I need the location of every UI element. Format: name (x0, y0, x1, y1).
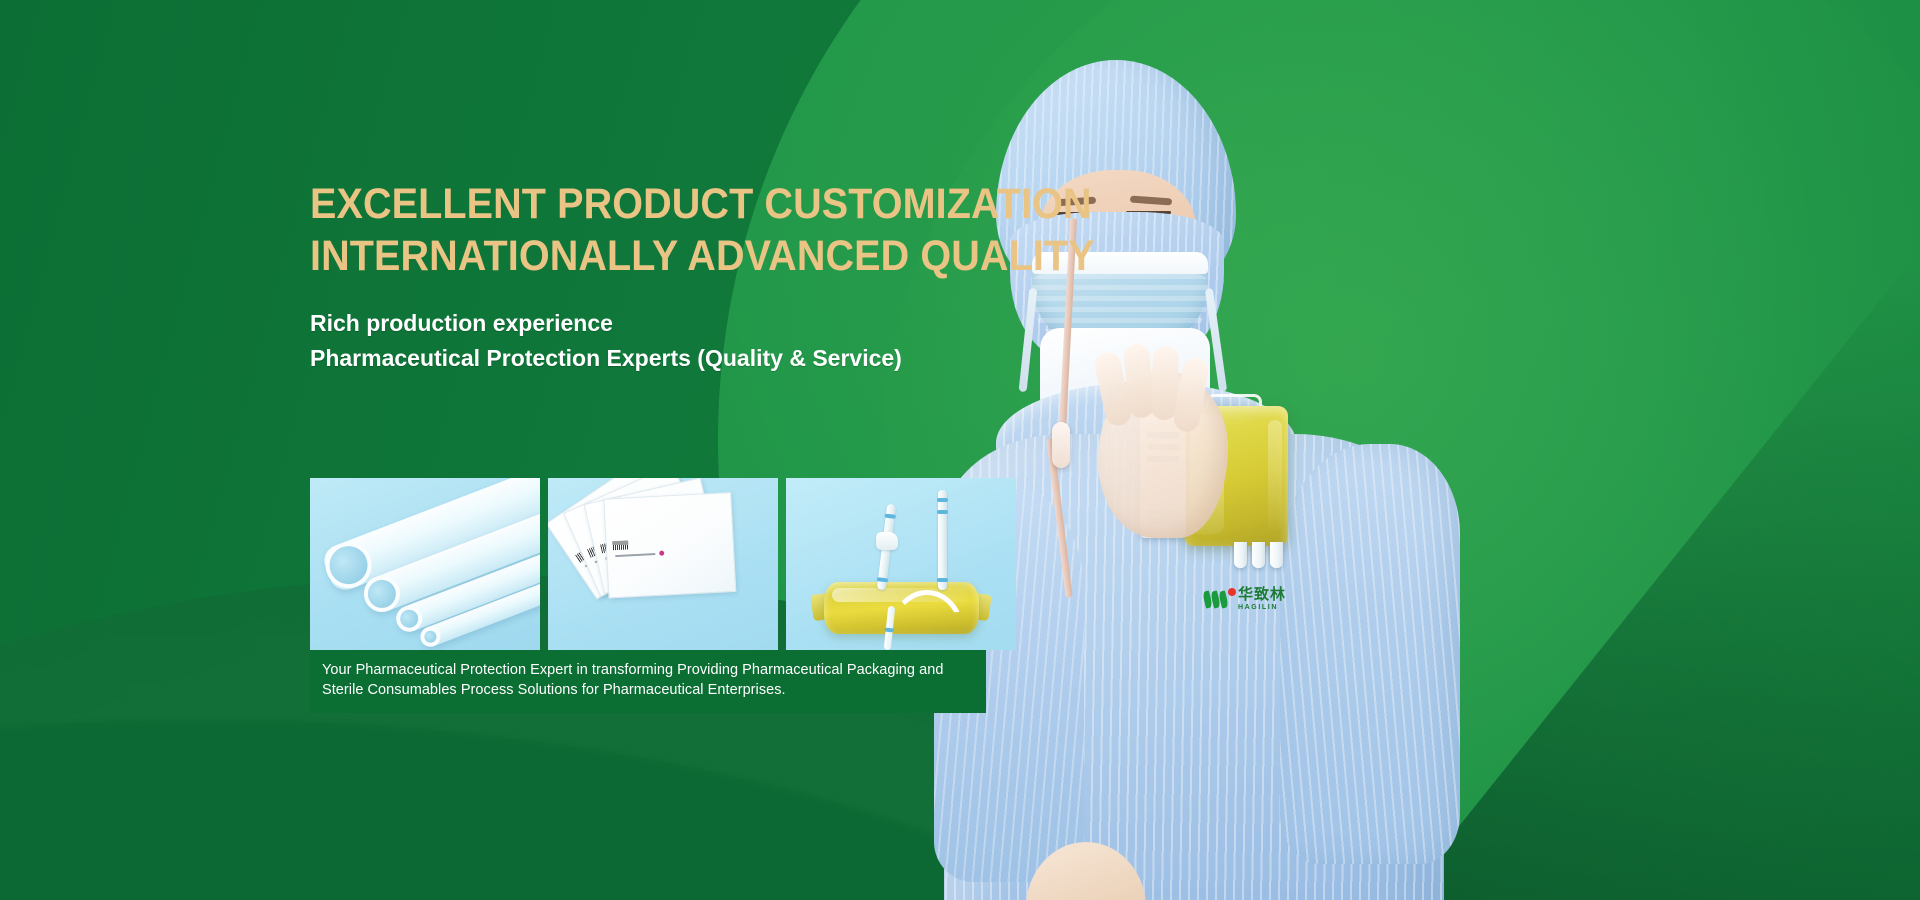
subheadline-line-2: Pharmaceutical Protection Experts (Quali… (310, 341, 1170, 376)
logo-text-en: HAGILIN (1238, 604, 1286, 611)
arm-right (1280, 444, 1460, 864)
product-thumbnail-strip (310, 478, 1016, 650)
hagilin-logo: 华致林 HAGILIN (1204, 582, 1312, 616)
bag-outlet-port-2 (1252, 542, 1265, 568)
subheadline-line-1: Rich production experience (310, 306, 1170, 341)
thumbnail-sterile-pouches[interactable] (548, 478, 778, 650)
logo-text-cn: 华致林 (1238, 587, 1286, 602)
bag-port-right (938, 490, 947, 590)
banner-copy: EXCELLENT PRODUCT CUSTOMIZATION INTERNAT… (310, 178, 1170, 376)
pouch-4 (603, 492, 736, 599)
caption-text: Your Pharmaceutical Protection Expert in… (322, 661, 974, 700)
subheadline: Rich production experience Pharmaceutica… (310, 306, 1170, 376)
bag-clamp (876, 532, 898, 550)
iv-drip-chamber (1052, 422, 1070, 468)
bag-outlet-port-3 (1270, 542, 1283, 568)
logo-red-dot (1228, 588, 1236, 596)
headline-line-1: EXCELLENT PRODUCT CUSTOMIZATION (310, 178, 1101, 230)
sterile-pouches-image (548, 478, 778, 650)
bag-outlet-port-1 (1234, 542, 1247, 568)
bioprocess-bag-image (786, 478, 1016, 650)
caption-bar: Your Pharmaceutical Protection Expert in… (310, 650, 986, 713)
hero-banner: EXCELLENT PRODUCT CUSTOMIZATION INTERNAT… (0, 0, 1920, 900)
logo-wave-marks (1204, 588, 1234, 610)
thumbnail-bioprocess-bag[interactable] (786, 478, 1016, 650)
headline-line-2: INTERNATIONALLY ADVANCED QUALITY (310, 230, 1101, 282)
silicone-tubing-image (310, 478, 540, 650)
thumbnail-silicone-tubing[interactable] (310, 478, 540, 650)
